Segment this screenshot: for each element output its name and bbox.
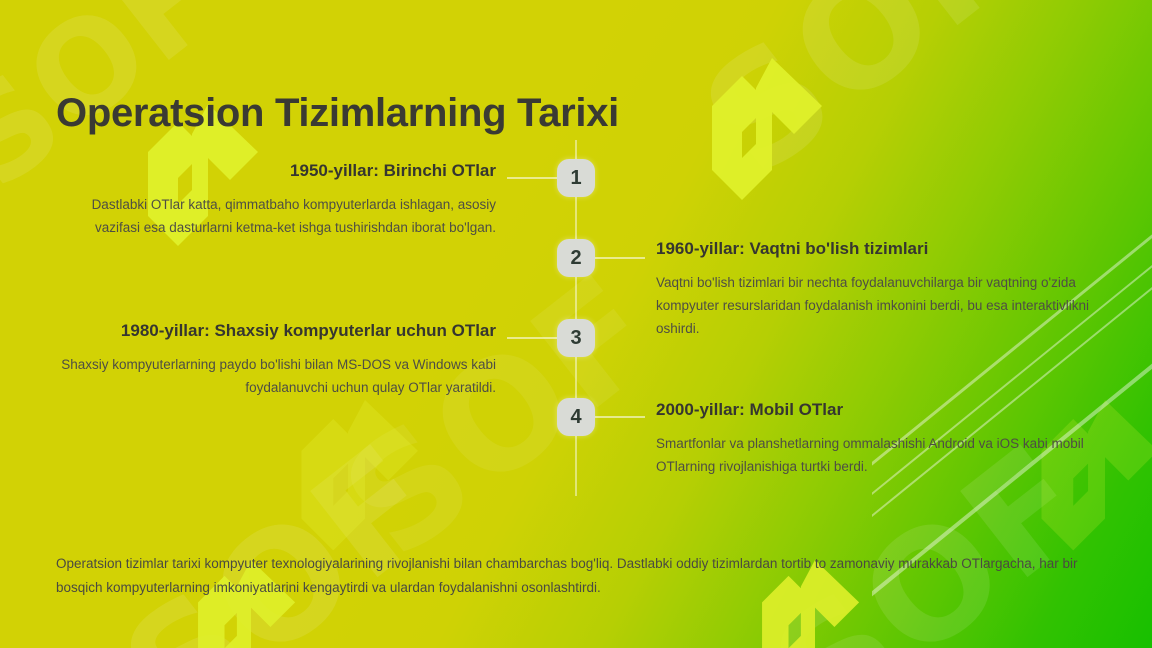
timeline-item-heading: 2000-yillar: Mobil OTlar	[656, 399, 1096, 422]
timeline-item-body: Shaxsiy kompyuterlarning paydo bo'lishi …	[56, 353, 496, 399]
timeline-node-1[interactable]: 1	[557, 159, 595, 197]
timeline-connector	[507, 177, 557, 179]
watermark-text: SOF	[93, 413, 471, 648]
timeline-item-heading: 1960-yillar: Vaqtni bo'lish tizimlari	[656, 238, 1096, 261]
timeline-item-3: 1980-yillar: Shaxsiy kompyuterlar uchun …	[56, 320, 496, 399]
timeline-connector	[595, 416, 645, 418]
summary-paragraph: Operatsion tizimlar tarixi kompyuter tex…	[56, 552, 1100, 600]
timeline-node-3[interactable]: 3	[557, 319, 595, 357]
timeline-connector	[595, 257, 645, 259]
timeline-item-body: Vaqtni bo'lish tizimlari bir nechta foyd…	[656, 271, 1096, 341]
timeline-connector	[507, 337, 557, 339]
timeline-item-2: 1960-yillar: Vaqtni bo'lish tizimlari Va…	[656, 238, 1096, 341]
angular-s-logo-icon	[712, 58, 832, 228]
timeline-item-heading: 1950-yillar: Birinchi OTlar	[56, 160, 496, 183]
timeline-item-4: 2000-yillar: Mobil OTlar Smartfonlar va …	[656, 399, 1096, 478]
slide-canvas: SOF SOF SOF SOF SOF	[0, 0, 1152, 648]
timeline-item-body: Smartfonlar va planshetlarning ommalashi…	[656, 432, 1096, 478]
timeline-node-2[interactable]: 2	[557, 239, 595, 277]
timeline-node-4[interactable]: 4	[557, 398, 595, 436]
page-title: Operatsion Tizimlarning Tarixi	[56, 91, 619, 136]
timeline-item-body: Dastlabki OTlar katta, qimmatbaho kompyu…	[56, 193, 496, 239]
watermark-text: SOF	[673, 0, 1051, 209]
timeline-item-heading: 1980-yillar: Shaxsiy kompyuterlar uchun …	[56, 320, 496, 343]
timeline-item-1: 1950-yillar: Birinchi OTlar Dastlabki OT…	[56, 160, 496, 239]
